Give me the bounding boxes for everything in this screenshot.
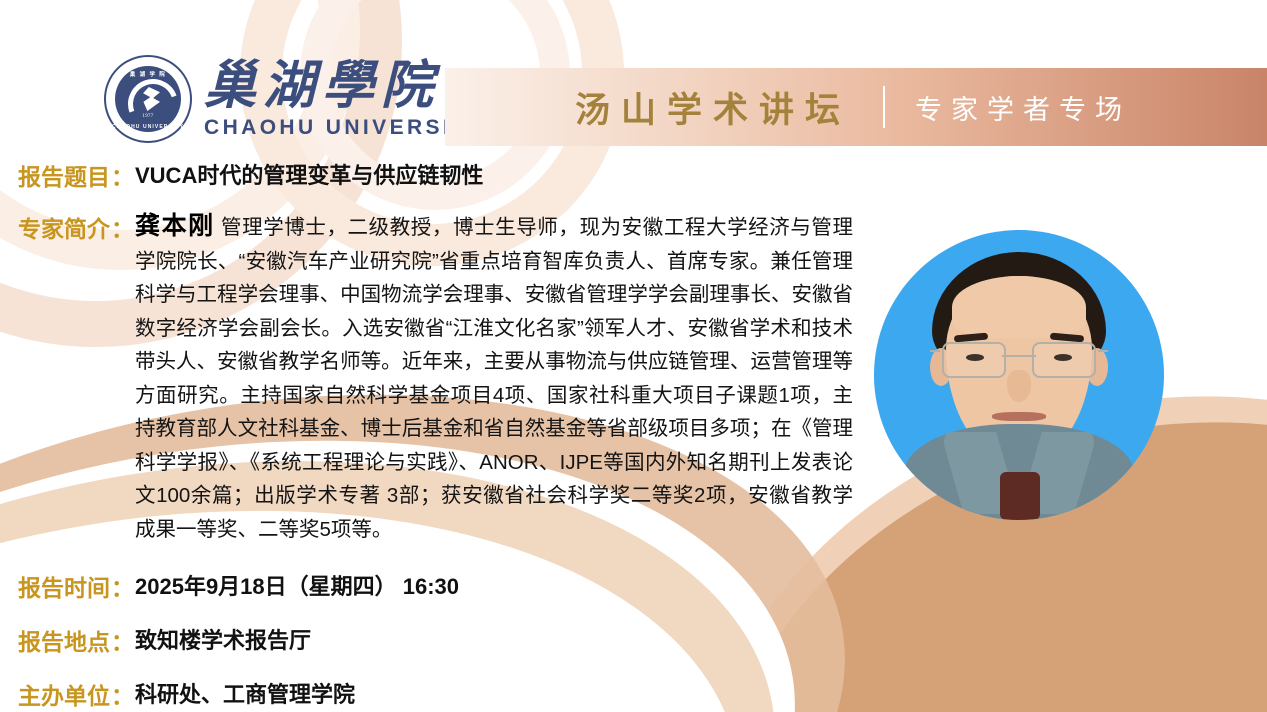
field-row-host: 主办单位 ： 科研处、工商管理学院 — [18, 677, 355, 711]
host-value: 科研处、工商管理学院 — [135, 677, 355, 709]
speaker-name: 龚本刚 — [135, 212, 215, 240]
university-seal-icon: 巢 湖 学 院 1977 CHAOHU UNIVERSITY — [104, 55, 192, 143]
seal-top-label: 巢 湖 学 院 — [106, 70, 190, 78]
university-name-en: CHAOHU UNIVERSITY — [204, 117, 486, 138]
host-colon: ： — [110, 677, 135, 711]
bio-label: 专家简介 — [18, 210, 110, 244]
portrait-glasses-bridge — [1002, 355, 1036, 357]
field-row-place: 报告地点 ： 致知楼学术报告厅 — [18, 623, 311, 657]
university-logo-block: 巢 湖 学 院 1977 CHAOHU UNIVERSITY 巢湖學院 CHAO… — [104, 55, 486, 143]
portrait-forehead — [952, 276, 1086, 338]
place-colon: ： — [110, 623, 135, 657]
time-label: 报告时间 — [18, 569, 110, 603]
portrait-nose — [1007, 370, 1031, 402]
time-colon: ： — [110, 569, 135, 603]
title-label: 报告题目 — [18, 158, 110, 192]
banner-sub-title: 专家学者专场 — [915, 88, 1131, 127]
seal-bottom-label: CHAOHU UNIVERSITY — [106, 124, 190, 130]
field-row-bio: 专家简介 ： 龚本刚 管理学博士，二级教授，博士生导师，现为安徽工程大学经济与管… — [18, 210, 853, 546]
place-value: 致知楼学术报告厅 — [135, 623, 311, 655]
field-row-time: 报告时间 ： 2025年9月18日（星期四） 16:30 — [18, 569, 459, 603]
bio-body-text: 管理学博士，二级教授，博士生导师，现为安徽工程大学经济与管理学院院长、“安徽汽车… — [135, 216, 853, 541]
title-value: VUCA时代的管理变革与供应链韧性 — [135, 158, 483, 190]
poster-root: 巢 湖 学 院 1977 CHAOHU UNIVERSITY 巢湖學院 CHAO… — [0, 0, 1267, 712]
banner-main-title: 汤山学术讲坛 — [575, 82, 851, 133]
poster-header: 巢 湖 学 院 1977 CHAOHU UNIVERSITY 巢湖學院 CHAO… — [0, 0, 1267, 150]
university-name-group: 巢湖學院 CHAOHU UNIVERSITY — [204, 61, 486, 138]
portrait-lens-left — [942, 342, 1006, 378]
portrait-lens-right — [1032, 342, 1096, 378]
place-label: 报告地点 — [18, 623, 110, 657]
bio-colon: ： — [110, 210, 135, 244]
portrait-mouth — [992, 412, 1046, 421]
speaker-portrait — [874, 230, 1164, 520]
seal-year-label: 1977 — [106, 114, 190, 119]
field-row-title: 报告题目 ： VUCA时代的管理变革与供应链韧性 — [18, 158, 483, 192]
university-name-cn: 巢湖學院 — [204, 61, 486, 113]
portrait-glasses-temple-right — [1098, 350, 1108, 352]
portrait-tie — [1000, 472, 1040, 520]
bio-paragraph: 龚本刚 管理学博士，二级教授，博士生导师，现为安徽工程大学经济与管理学院院长、“… — [135, 210, 853, 546]
portrait-glasses-temple-left — [930, 350, 940, 352]
host-label: 主办单位 — [18, 677, 110, 711]
lecture-series-banner: 汤山学术讲坛 专家学者专场 — [445, 68, 1267, 146]
banner-divider — [883, 86, 885, 128]
title-colon: ： — [110, 158, 135, 192]
time-value: 2025年9月18日（星期四） 16:30 — [135, 569, 459, 601]
